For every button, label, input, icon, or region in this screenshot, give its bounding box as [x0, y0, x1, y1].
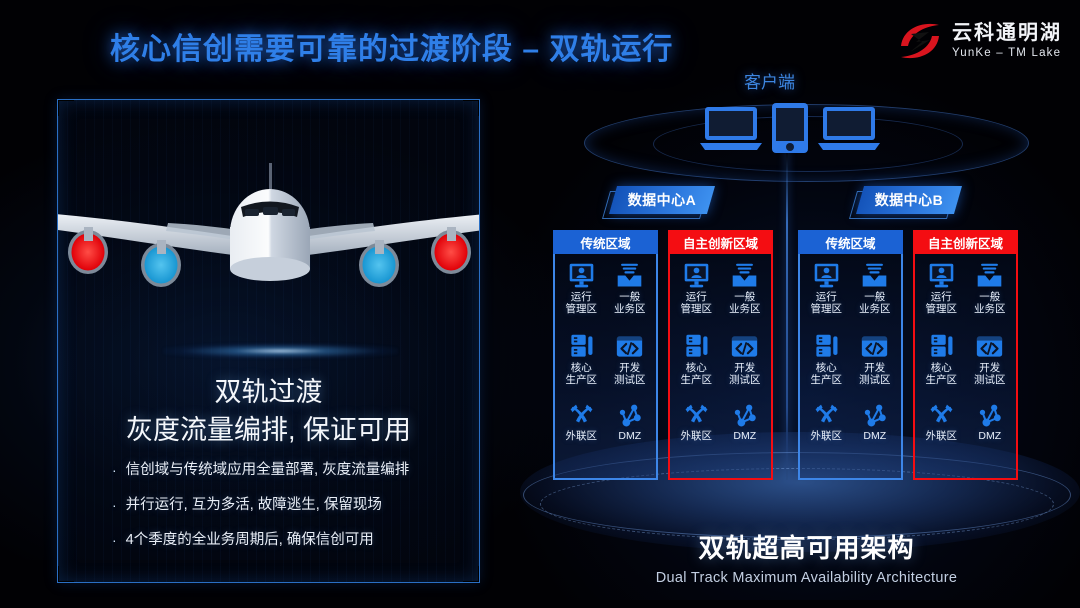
- zone-cell-dmz[interactable]: DMZ: [851, 403, 900, 474]
- inbox-tray-icon: [976, 260, 1003, 290]
- zone-cell-core-production[interactable]: 核心生产区: [802, 331, 851, 402]
- zone-cell-label: 核心生产区: [681, 363, 713, 387]
- logo-text-cn: 云科通明湖: [952, 23, 1062, 43]
- headline-line-2: 灰度流量编排, 保证可用: [58, 411, 479, 449]
- list-item-label: 并行运行, 互为多活, 故障逃生, 保留现场: [126, 495, 382, 517]
- zone-column-dcb-innovation: 自主创新区域 运行管理区 一般业务区 核心生产区 开发测试区 外联区 DMZ: [913, 230, 1018, 480]
- ground-light-glow: [163, 343, 398, 359]
- list-item-label: 4个季度的全业务周期后, 确保信创可用: [126, 530, 374, 552]
- code-brackets-icon: [616, 331, 643, 361]
- datacenter-label-text: 数据中心A: [613, 186, 711, 214]
- zone-cell-general-business[interactable]: 一般业务区: [851, 260, 900, 331]
- zone-cell-external[interactable]: 外联区: [672, 403, 721, 474]
- zone-cell-label: 一般业务区: [729, 292, 761, 316]
- zone-cell-label: 核心生产区: [926, 363, 958, 387]
- zone-cell-ops[interactable]: 运行管理区: [917, 260, 966, 331]
- user-monitor-icon: [813, 260, 840, 290]
- zone-cell-label: 核心生产区: [811, 363, 843, 387]
- zone-cell-core-production[interactable]: 核心生产区: [557, 331, 606, 402]
- zone-column-dca-traditional: 传统区域 运行管理区 一般业务区 核心生产区 开发测试区 外联区 DMZ: [553, 230, 658, 480]
- caption-title-cn: 双轨超高可用架构: [545, 528, 1068, 565]
- client-tier-label: 客户端: [744, 68, 795, 93]
- panel-corner-bottom-left: [57, 566, 74, 583]
- zone-cell-label: 外联区: [926, 431, 958, 443]
- zone-header: 传统区域: [553, 230, 658, 254]
- left-feature-panel: 双轨过渡 灰度流量编排, 保证可用 · 信创域与传统域应用全量部署, 灰度流量编…: [57, 99, 480, 583]
- zone-cell-label: 外联区: [681, 431, 713, 443]
- datacenter-label-b: 数据中心B: [860, 186, 958, 214]
- zone-cell-label: 开发测试区: [729, 363, 761, 387]
- zone-cell-dmz[interactable]: DMZ: [966, 403, 1015, 474]
- page-title: 核心信创需要可靠的过渡阶段 – 双轨运行: [110, 24, 673, 68]
- zone-cell-label: 外联区: [566, 431, 598, 443]
- bullet-marker-icon: ·: [112, 495, 117, 516]
- headline-line-1: 双轨过渡: [58, 373, 479, 411]
- zone-cell-dmz[interactable]: DMZ: [721, 403, 770, 474]
- inbox-tray-icon: [616, 260, 643, 290]
- zone-header: 传统区域: [798, 230, 903, 254]
- caption-title-en: Dual Track Maximum Availability Architec…: [545, 570, 1068, 586]
- zone-cell-label: 开发测试区: [614, 363, 646, 387]
- zone-cell-label: 一般业务区: [859, 292, 891, 316]
- brand-logo: 云科通明湖 YunKe – TM Lake: [897, 20, 1062, 62]
- crossing-arrows-icon: [814, 403, 839, 429]
- zone-cell-label: 开发测试区: [859, 363, 891, 387]
- server-core-icon: [928, 331, 955, 361]
- user-monitor-icon: [568, 260, 595, 290]
- crossing-arrows-icon: [569, 403, 594, 429]
- network-nodes-icon: [977, 403, 1002, 429]
- zone-cell-core-production[interactable]: 核心生产区: [672, 331, 721, 402]
- panel-bullet-list: · 信创域与传统域应用全量部署, 灰度流量编排 · 并行运行, 互为多活, 故障…: [112, 460, 459, 564]
- list-item: · 4个季度的全业务周期后, 确保信创可用: [112, 530, 459, 552]
- zone-cell-external[interactable]: 外联区: [802, 403, 851, 474]
- zone-cell-general-business[interactable]: 一般业务区: [606, 260, 655, 331]
- zone-cell-dev-test[interactable]: 开发测试区: [851, 331, 900, 402]
- crossing-arrows-icon: [684, 403, 709, 429]
- zone-header: 自主创新区域: [668, 230, 773, 254]
- zone-body: 运行管理区 一般业务区 核心生产区 开发测试区 外联区 DMZ: [553, 254, 658, 480]
- panel-headline: 双轨过渡 灰度流量编排, 保证可用: [58, 373, 479, 450]
- zone-body: 运行管理区 一般业务区 核心生产区 开发测试区 外联区 DMZ: [668, 254, 773, 480]
- zone-header: 自主创新区域: [913, 230, 1018, 254]
- zone-cell-dmz[interactable]: DMZ: [606, 403, 655, 474]
- zone-cell-label: 运行管理区: [566, 292, 598, 316]
- user-monitor-icon: [683, 260, 710, 290]
- zone-cell-label: 运行管理区: [681, 292, 713, 316]
- panel-corner-top-left: [57, 99, 74, 116]
- zone-cell-core-production[interactable]: 核心生产区: [917, 331, 966, 402]
- laptop-icon: [700, 107, 762, 150]
- zone-cell-label: DMZ: [863, 431, 886, 443]
- code-brackets-icon: [861, 331, 888, 361]
- zone-column-dca-innovation: 自主创新区域 运行管理区 一般业务区 核心生产区 开发测试区 外联区 DMZ: [668, 230, 773, 480]
- inbox-tray-icon: [731, 260, 758, 290]
- zone-cell-label: 开发测试区: [974, 363, 1006, 387]
- network-nodes-icon: [617, 403, 642, 429]
- zone-cell-ops[interactable]: 运行管理区: [802, 260, 851, 331]
- zone-cell-dev-test[interactable]: 开发测试区: [966, 331, 1015, 402]
- zone-cell-dev-test[interactable]: 开发测试区: [721, 331, 770, 402]
- zone-column-dcb-traditional: 传统区域 运行管理区 一般业务区 核心生产区 开发测试区 外联区 DMZ: [798, 230, 903, 480]
- server-core-icon: [568, 331, 595, 361]
- bullet-marker-icon: ·: [112, 460, 117, 481]
- zone-cell-label: DMZ: [733, 431, 756, 443]
- zone-cell-label: 一般业务区: [974, 292, 1006, 316]
- inbox-tray-icon: [861, 260, 888, 290]
- network-nodes-icon: [732, 403, 757, 429]
- list-item: · 信创域与传统域应用全量部署, 灰度流量编排: [112, 460, 459, 482]
- zone-cell-ops[interactable]: 运行管理区: [672, 260, 721, 331]
- client-device-group: [700, 101, 880, 156]
- server-core-icon: [813, 331, 840, 361]
- panel-corner-bottom-right: [463, 566, 480, 583]
- swoosh-logo-icon: [897, 20, 943, 62]
- zone-cell-label: 运行管理区: [926, 292, 958, 316]
- zone-cell-label: DMZ: [618, 431, 641, 443]
- datacenter-label-text: 数据中心B: [860, 186, 958, 214]
- zone-cell-label: 运行管理区: [811, 292, 843, 316]
- panel-corner-top-right: [463, 99, 480, 116]
- zone-cell-label: 一般业务区: [614, 292, 646, 316]
- zone-cell-label: 外联区: [811, 431, 843, 443]
- architecture-caption: 双轨超高可用架构 Dual Track Maximum Availability…: [545, 528, 1068, 586]
- zone-cell-external[interactable]: 外联区: [557, 403, 606, 474]
- tablet-icon: [772, 103, 808, 153]
- list-item: · 并行运行, 互为多活, 故障逃生, 保留现场: [112, 495, 459, 517]
- zone-cell-dev-test[interactable]: 开发测试区: [606, 331, 655, 402]
- datacenter-label-a: 数据中心A: [613, 186, 711, 214]
- airplane-illustration: [57, 155, 480, 370]
- zone-cell-label: 核心生产区: [566, 363, 598, 387]
- logo-text-en: YunKe – TM Lake: [952, 48, 1062, 60]
- code-brackets-icon: [731, 331, 758, 361]
- zone-cell-general-business[interactable]: 一般业务区: [721, 260, 770, 331]
- zone-body: 运行管理区 一般业务区 核心生产区 开发测试区 外联区 DMZ: [913, 254, 1018, 480]
- crossing-arrows-icon: [929, 403, 954, 429]
- list-item-label: 信创域与传统域应用全量部署, 灰度流量编排: [126, 460, 410, 482]
- server-core-icon: [683, 331, 710, 361]
- laptop-icon: [818, 107, 880, 150]
- code-brackets-icon: [976, 331, 1003, 361]
- network-nodes-icon: [862, 403, 887, 429]
- zone-body: 运行管理区 一般业务区 核心生产区 开发测试区 外联区 DMZ: [798, 254, 903, 480]
- bullet-marker-icon: ·: [112, 530, 117, 551]
- zone-cell-external[interactable]: 外联区: [917, 403, 966, 474]
- user-monitor-icon: [928, 260, 955, 290]
- zone-cell-label: DMZ: [978, 431, 1001, 443]
- zone-cell-general-business[interactable]: 一般业务区: [966, 260, 1015, 331]
- datacenter-divider: [786, 150, 788, 480]
- zone-cell-ops[interactable]: 运行管理区: [557, 260, 606, 331]
